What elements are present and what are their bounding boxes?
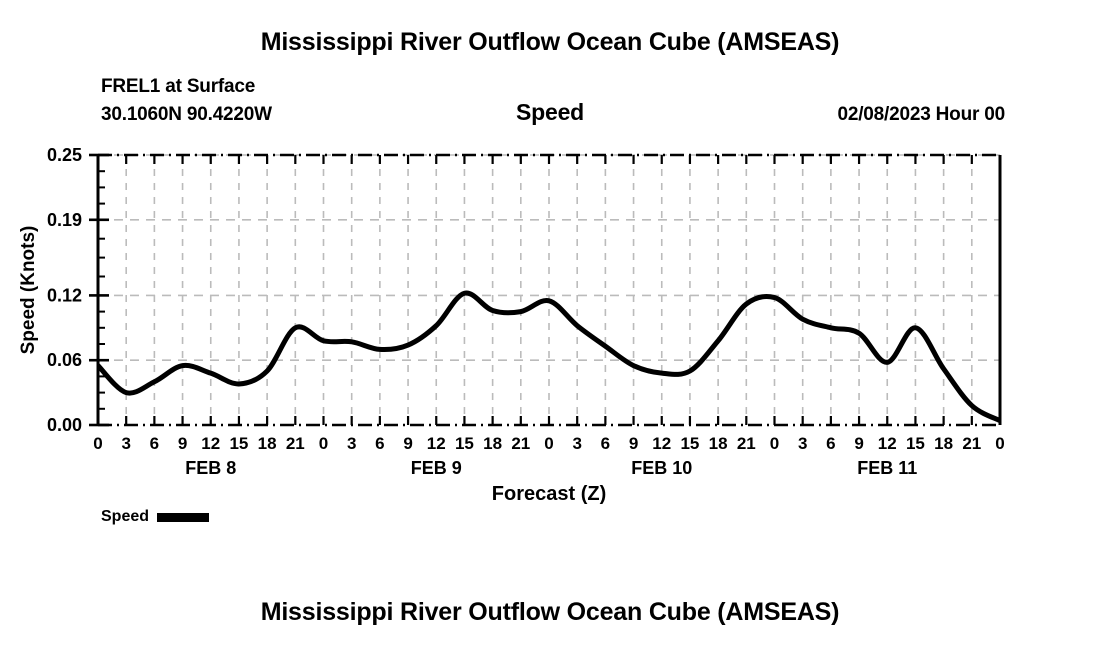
page-title-bottom: Mississippi River Outflow Ocean Cube (AM… (0, 598, 1100, 627)
x-tick-label: 9 (403, 434, 412, 453)
x-tick-label: 12 (427, 434, 446, 453)
x-tick-label: 6 (826, 434, 835, 453)
x-tick-label: 6 (375, 434, 384, 453)
x-tick-label: 18 (258, 434, 277, 453)
x-tick-label: 3 (347, 434, 356, 453)
x-tick-label: 18 (934, 434, 953, 453)
x-tick-label: 6 (601, 434, 610, 453)
y-tick-label: 0.00 (47, 415, 82, 435)
x-tick-label: 12 (201, 434, 220, 453)
y-axis-title: Speed (Knots) (18, 226, 39, 355)
axis-titles: Forecast (Z)Speed (Knots) (18, 226, 606, 505)
x-tick-label: 15 (455, 434, 474, 453)
x-tick-label: 9 (178, 434, 187, 453)
x-tick-label: 0 (319, 434, 328, 453)
x-axis-title: Forecast (Z) (492, 483, 606, 505)
x-tick-label: 3 (798, 434, 807, 453)
x-tick-label: 9 (854, 434, 863, 453)
y-tick-labels: 0.000.060.120.190.25 (47, 145, 82, 435)
day-label: FEB 9 (411, 458, 462, 478)
y-tick-label: 0.12 (47, 285, 82, 305)
day-label: FEB 10 (631, 458, 692, 478)
x-tick-label: 0 (544, 434, 553, 453)
speed-line-chart: 0.000.060.120.190.25 0369121518210369121… (0, 0, 1100, 650)
plot-area: 0.000.060.120.190.25 0369121518210369121… (0, 0, 1100, 650)
legend: Speed (101, 508, 209, 526)
x-tick-label: 21 (511, 434, 530, 453)
x-tick-label: 9 (629, 434, 638, 453)
y-tick-label: 0.25 (47, 145, 82, 165)
x-tick-label: 15 (906, 434, 925, 453)
day-labels: FEB 8FEB 9FEB 10FEB 11 (185, 458, 917, 478)
x-tick-label: 3 (572, 434, 581, 453)
x-tick-label: 18 (483, 434, 502, 453)
x-tick-label: 3 (121, 434, 130, 453)
legend-label: Speed (101, 508, 149, 526)
x-tick-label: 6 (150, 434, 159, 453)
legend-swatch-speed (157, 513, 209, 522)
tick-marks (89, 155, 1000, 425)
x-tick-label: 21 (286, 434, 305, 453)
x-tick-label: 0 (770, 434, 779, 453)
x-tick-label: 12 (652, 434, 671, 453)
day-label: FEB 8 (185, 458, 236, 478)
chart-page: Mississippi River Outflow Ocean Cube (AM… (0, 0, 1100, 650)
x-tick-labels: 0369121518210369121518210369121518210369… (93, 434, 1004, 453)
y-tick-label: 0.06 (47, 350, 82, 370)
x-tick-label: 15 (680, 434, 699, 453)
x-tick-label: 18 (709, 434, 728, 453)
x-tick-label: 15 (229, 434, 248, 453)
x-tick-label: 21 (962, 434, 981, 453)
x-tick-label: 0 (995, 434, 1004, 453)
y-tick-label: 0.19 (47, 210, 82, 230)
x-tick-label: 21 (737, 434, 756, 453)
day-label: FEB 11 (857, 458, 917, 478)
x-tick-label: 12 (878, 434, 897, 453)
x-tick-label: 0 (93, 434, 102, 453)
